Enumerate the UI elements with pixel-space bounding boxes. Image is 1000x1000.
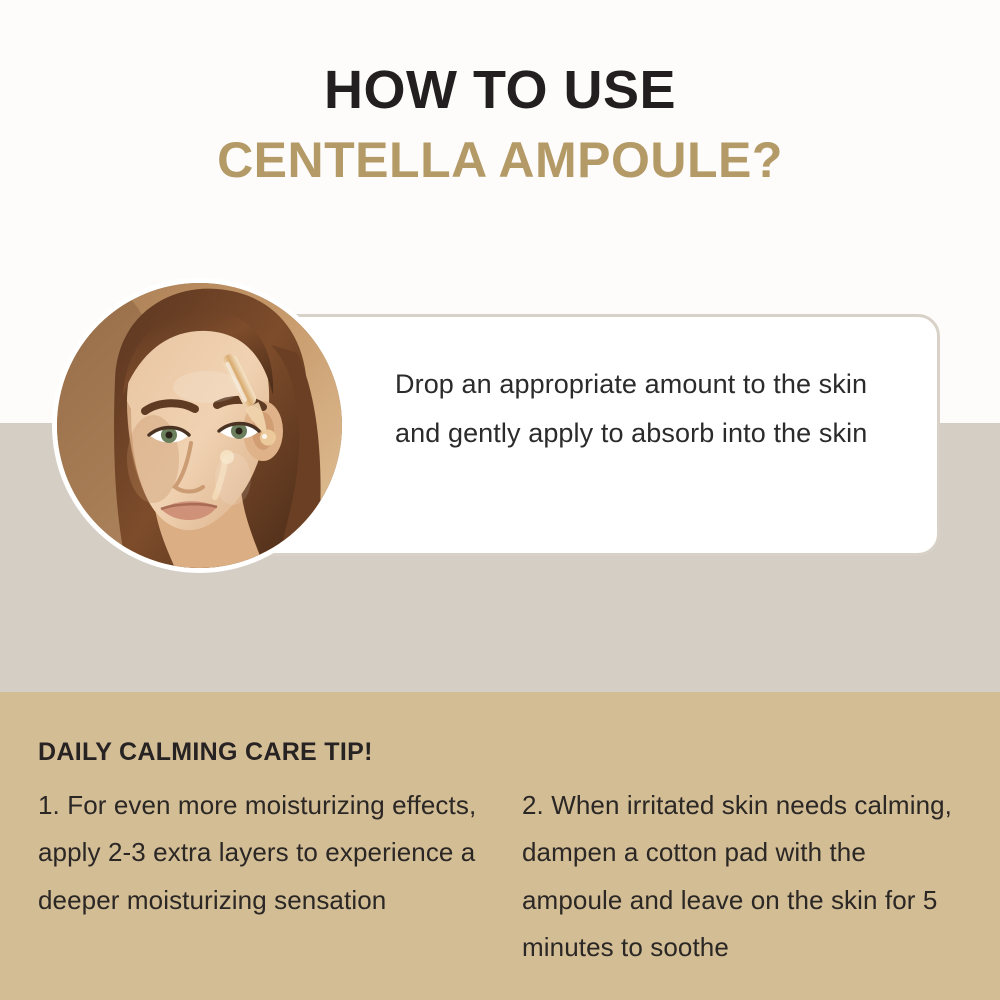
tip-item-2: 2. When irritated skin needs calming, da… [522,782,970,971]
page-title-line2: CENTELLA AMPOULE? [0,134,1000,186]
instruction-text: Drop an appropriate amount to the skin a… [395,360,905,458]
tips-columns: 1. For even more moisturizing effects, a… [38,782,970,971]
tips-section-title: DAILY CALMING CARE TIP! [38,738,373,767]
serum-application-photo [57,283,342,568]
infographic-page: HOW TO USE CENTELLA AMPOULE? Drop an app… [0,0,1000,1000]
page-title-line1: HOW TO USE [0,62,1000,118]
page-header: HOW TO USE CENTELLA AMPOULE? [0,62,1000,186]
tip-item-1: 1. For even more moisturizing effects, a… [38,782,486,971]
serum-application-photo-illustration [57,283,342,568]
